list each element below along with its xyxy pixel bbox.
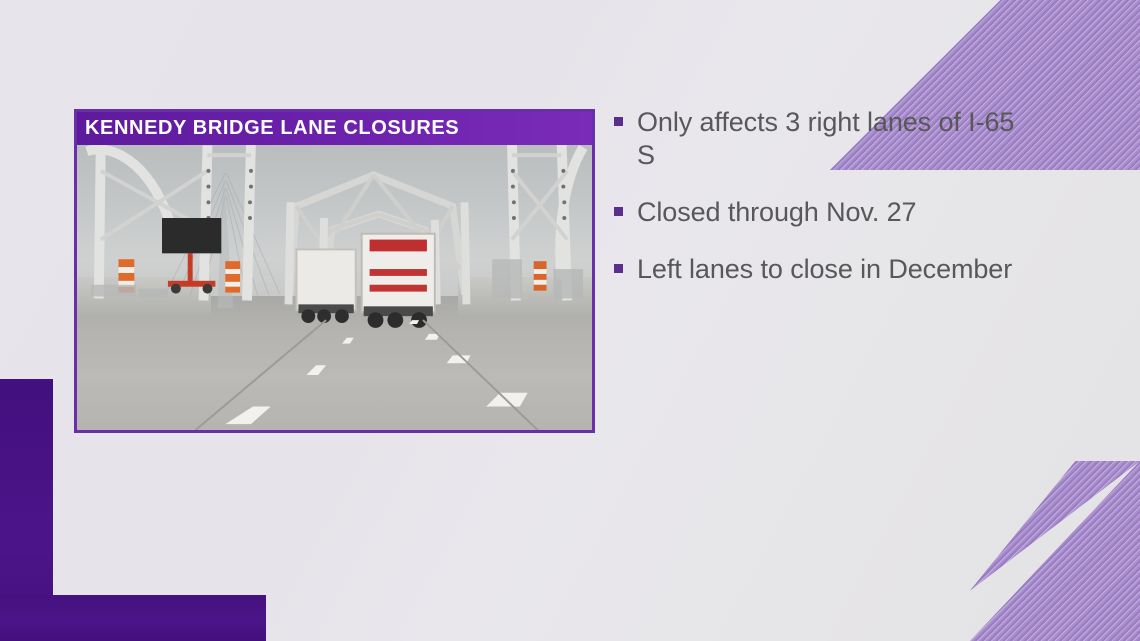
bridge-photo-image — [77, 112, 592, 430]
photo-banner-title: KENNEDY BRIDGE LANE CLOSURES — [77, 117, 459, 140]
list-item: Left lanes to close in December — [614, 253, 1034, 286]
semi-truck-white-icon — [296, 249, 355, 323]
bullet-text: Only affects 3 right lanes of I-65 S — [637, 106, 1034, 172]
orange-barrel-mid — [225, 261, 240, 292]
bullet-square-icon — [614, 117, 623, 126]
news-graphic-screen: KENNEDY BRIDGE LANE CLOSURES Only affect… — [0, 0, 1140, 641]
bridge-photo-card: KENNEDY BRIDGE LANE CLOSURES — [74, 109, 595, 433]
bullet-text: Closed through Nov. 27 — [637, 196, 916, 229]
list-item: Only affects 3 right lanes of I-65 S — [614, 106, 1034, 172]
striped-corner-bottom-right-decoration — [970, 461, 1140, 641]
orange-barrel-right — [534, 261, 547, 290]
photo-banner: KENNEDY BRIDGE LANE CLOSURES — [77, 112, 592, 145]
bullet-square-icon — [614, 207, 623, 216]
message-board-sign-icon — [162, 218, 221, 294]
list-item: Closed through Nov. 27 — [614, 196, 1034, 229]
bullet-text: Left lanes to close in December — [637, 253, 1012, 286]
bullet-list: Only affects 3 right lanes of I-65 S Clo… — [614, 106, 1034, 310]
lane-markings — [225, 320, 527, 424]
bridge-structure-overlay — [77, 112, 592, 430]
semi-truck-red-trim-icon — [362, 234, 435, 328]
bullet-square-icon — [614, 264, 623, 273]
purple-bracket-horizontal-decoration — [0, 595, 266, 641]
